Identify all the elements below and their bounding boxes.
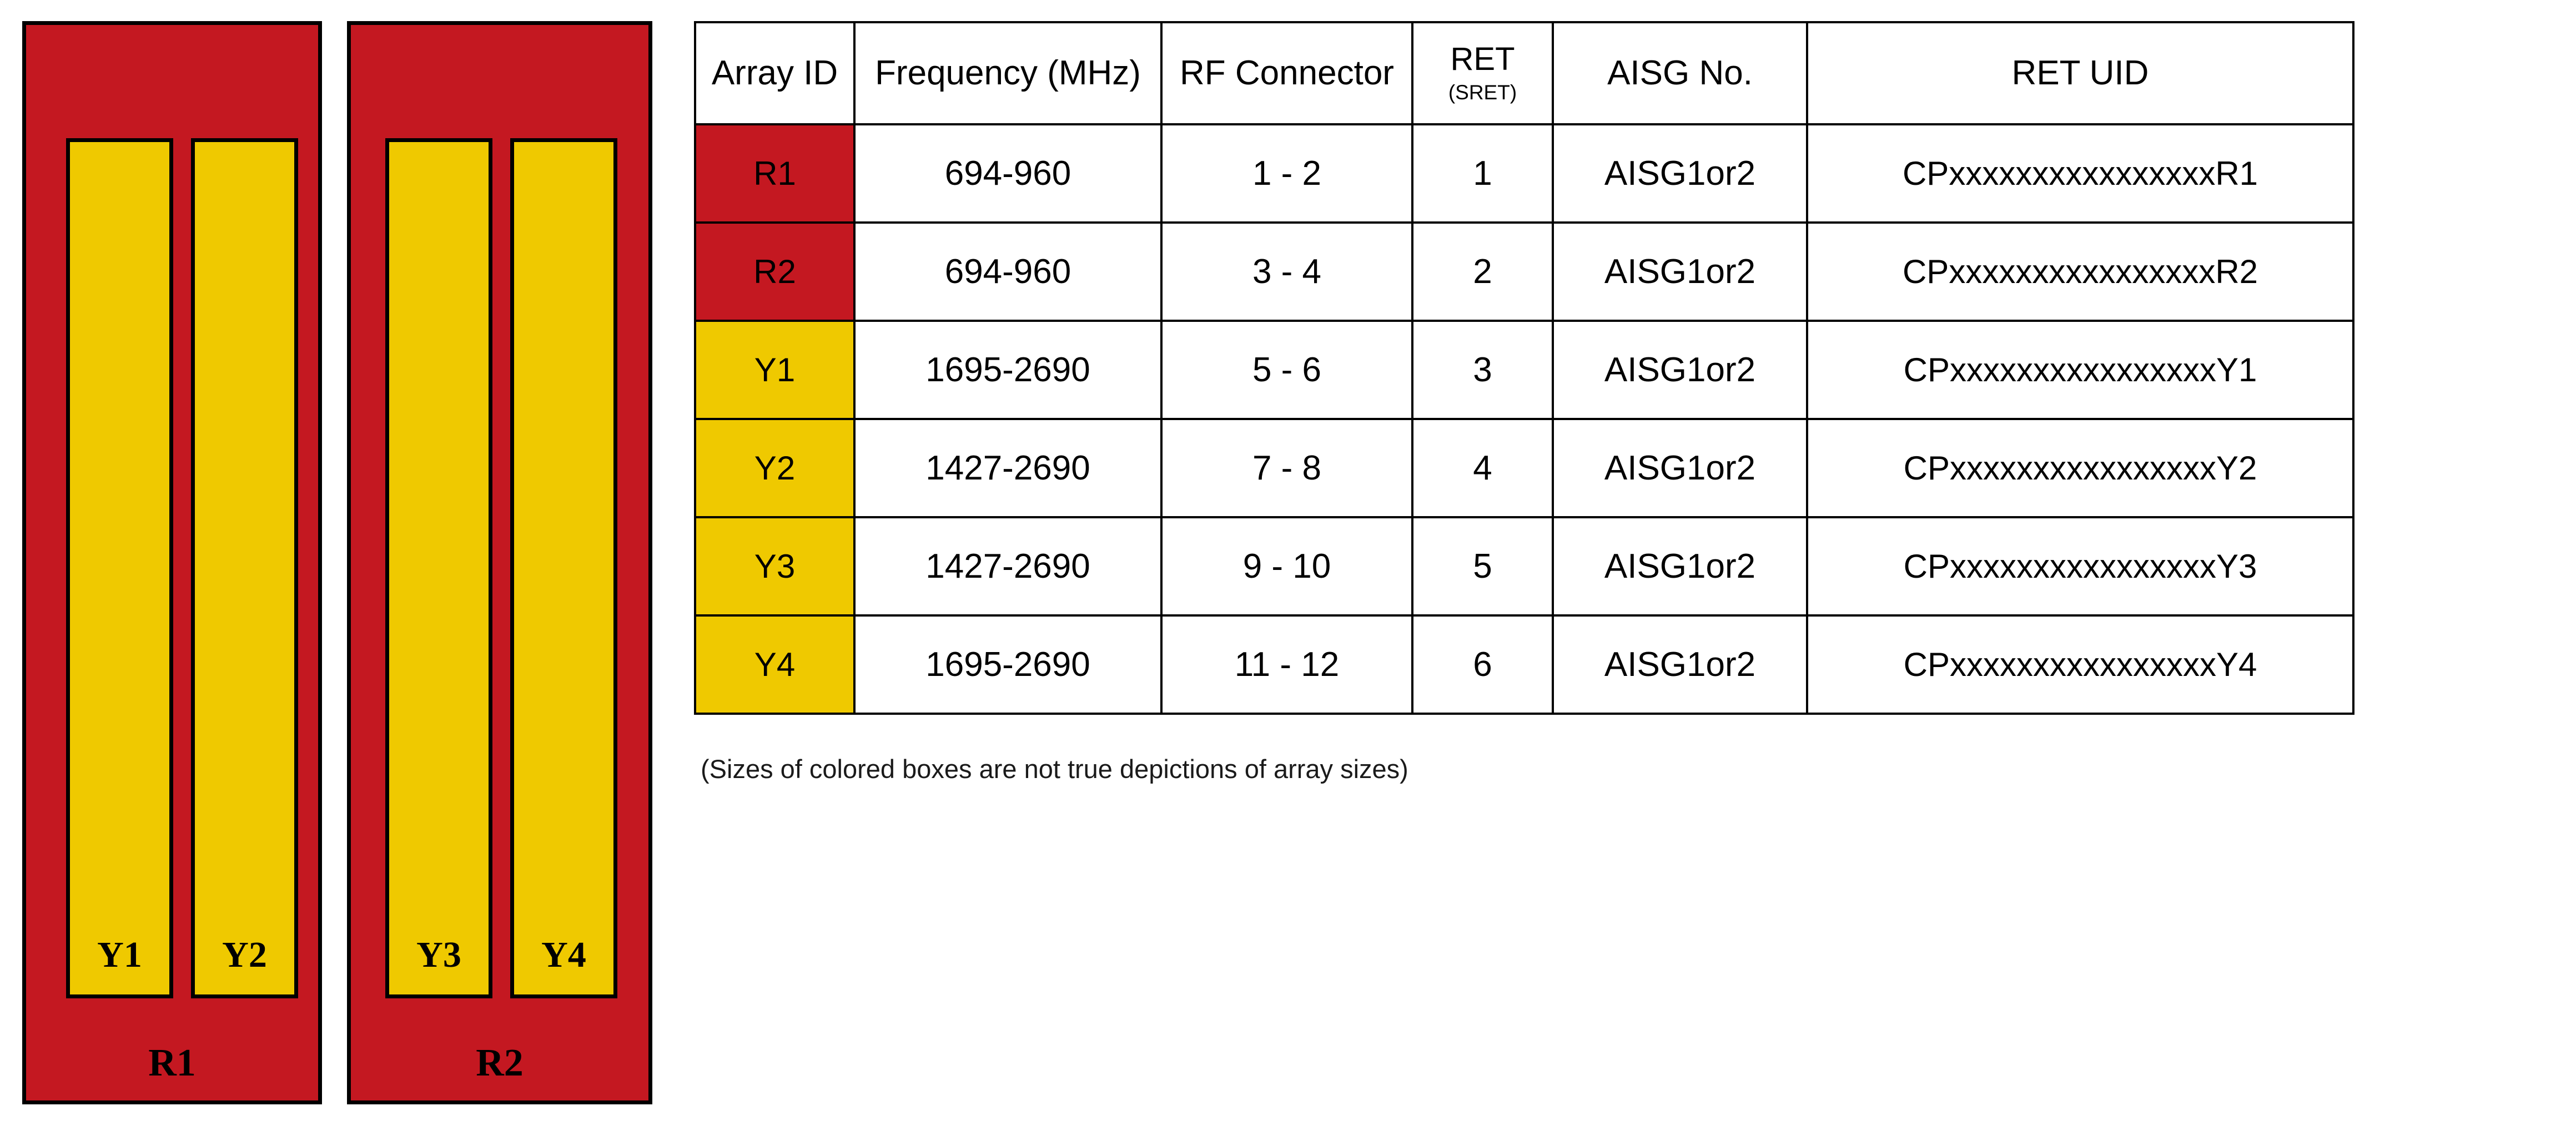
- cell-ret-uid: CPxxxxxxxxxxxxxxxxR2: [1807, 223, 2353, 321]
- cell-rf-connector: 9 - 10: [1161, 517, 1412, 615]
- cell-frequency: 1427-2690: [854, 517, 1161, 615]
- cell-ret: 2: [1412, 223, 1553, 321]
- cell-array-id: Y4: [695, 615, 854, 714]
- table-row: Y4 1695-2690 11 - 12 6 AISG1or2 CPxxxxxx…: [695, 615, 2353, 714]
- cell-ret: 4: [1412, 419, 1553, 517]
- cell-aisg-no: AISG1or2: [1553, 223, 1807, 321]
- array-strip-y3: Y3: [385, 138, 492, 998]
- panel-label-r1: R1: [26, 1044, 318, 1083]
- cell-ret: 3: [1412, 321, 1553, 419]
- table-row: Y2 1427-2690 7 - 8 4 AISG1or2 CPxxxxxxxx…: [695, 419, 2353, 517]
- antenna-panel-r1: Y1 Y2 R1: [22, 21, 322, 1104]
- cell-rf-connector: 11 - 12: [1161, 615, 1412, 714]
- cell-ret: 1: [1412, 124, 1553, 223]
- column-header-aisg-no: AISG No.: [1553, 22, 1807, 124]
- cell-frequency: 1695-2690: [854, 615, 1161, 714]
- cell-ret: 5: [1412, 517, 1553, 615]
- column-header-frequency: Frequency (MHz): [854, 22, 1161, 124]
- array-label-y3: Y3: [389, 937, 489, 973]
- array-label-y2: Y2: [195, 937, 294, 973]
- cell-array-id: R2: [695, 223, 854, 321]
- array-strip-y4: Y4: [510, 138, 617, 998]
- ret-configuration-table-container: Array ID Frequency (MHz) RF Connector RE…: [694, 21, 2352, 715]
- cell-ret-uid: CPxxxxxxxxxxxxxxxxY4: [1807, 615, 2353, 714]
- table-header: Array ID Frequency (MHz) RF Connector RE…: [695, 22, 2353, 124]
- cell-aisg-no: AISG1or2: [1553, 124, 1807, 223]
- ret-configuration-table: Array ID Frequency (MHz) RF Connector RE…: [694, 21, 2354, 715]
- array-strip-y1: Y1: [66, 138, 173, 998]
- cell-ret: 6: [1412, 615, 1553, 714]
- cell-ret-uid: CPxxxxxxxxxxxxxxxxR1: [1807, 124, 2353, 223]
- table-row: R1 694-960 1 - 2 1 AISG1or2 CPxxxxxxxxxx…: [695, 124, 2353, 223]
- column-header-ret-uid: RET UID: [1807, 22, 2353, 124]
- cell-frequency: 1427-2690: [854, 419, 1161, 517]
- panel-label-r2: R2: [351, 1044, 648, 1083]
- cell-ret-uid: CPxxxxxxxxxxxxxxxxY2: [1807, 419, 2353, 517]
- table-row: Y1 1695-2690 5 - 6 3 AISG1or2 CPxxxxxxxx…: [695, 321, 2353, 419]
- cell-frequency: 694-960: [854, 223, 1161, 321]
- diagram-size-disclaimer: (Sizes of colored boxes are not true dep…: [701, 754, 1408, 784]
- antenna-array-diagram: Y1 Y2 R1 Y3 Y4 R2: [0, 0, 683, 1121]
- cell-aisg-no: AISG1or2: [1553, 517, 1807, 615]
- table-row: Y3 1427-2690 9 - 10 5 AISG1or2 CPxxxxxxx…: [695, 517, 2353, 615]
- cell-ret-uid: CPxxxxxxxxxxxxxxxxY1: [1807, 321, 2353, 419]
- cell-array-id: Y1: [695, 321, 854, 419]
- cell-ret-uid: CPxxxxxxxxxxxxxxxxY3: [1807, 517, 2353, 615]
- cell-rf-connector: 5 - 6: [1161, 321, 1412, 419]
- column-header-ret-main: RET: [1451, 41, 1515, 77]
- array-strip-y2: Y2: [191, 138, 298, 998]
- cell-rf-connector: 1 - 2: [1161, 124, 1412, 223]
- cell-array-id: Y2: [695, 419, 854, 517]
- cell-aisg-no: AISG1or2: [1553, 321, 1807, 419]
- table-body: R1 694-960 1 - 2 1 AISG1or2 CPxxxxxxxxxx…: [695, 124, 2353, 714]
- cell-aisg-no: AISG1or2: [1553, 419, 1807, 517]
- cell-rf-connector: 3 - 4: [1161, 223, 1412, 321]
- column-header-ret-sublabel: (SRET): [1413, 82, 1552, 104]
- array-label-y1: Y1: [70, 937, 169, 973]
- cell-frequency: 694-960: [854, 124, 1161, 223]
- column-header-ret: RET (SRET): [1412, 22, 1553, 124]
- cell-aisg-no: AISG1or2: [1553, 615, 1807, 714]
- cell-array-id: R1: [695, 124, 854, 223]
- array-label-y4: Y4: [514, 937, 613, 973]
- table-header-row: Array ID Frequency (MHz) RF Connector RE…: [695, 22, 2353, 124]
- column-header-array-id: Array ID: [695, 22, 854, 124]
- table-row: R2 694-960 3 - 4 2 AISG1or2 CPxxxxxxxxxx…: [695, 223, 2353, 321]
- cell-frequency: 1695-2690: [854, 321, 1161, 419]
- cell-array-id: Y3: [695, 517, 854, 615]
- antenna-panel-r2: Y3 Y4 R2: [347, 21, 652, 1104]
- cell-rf-connector: 7 - 8: [1161, 419, 1412, 517]
- column-header-rf-connector: RF Connector: [1161, 22, 1412, 124]
